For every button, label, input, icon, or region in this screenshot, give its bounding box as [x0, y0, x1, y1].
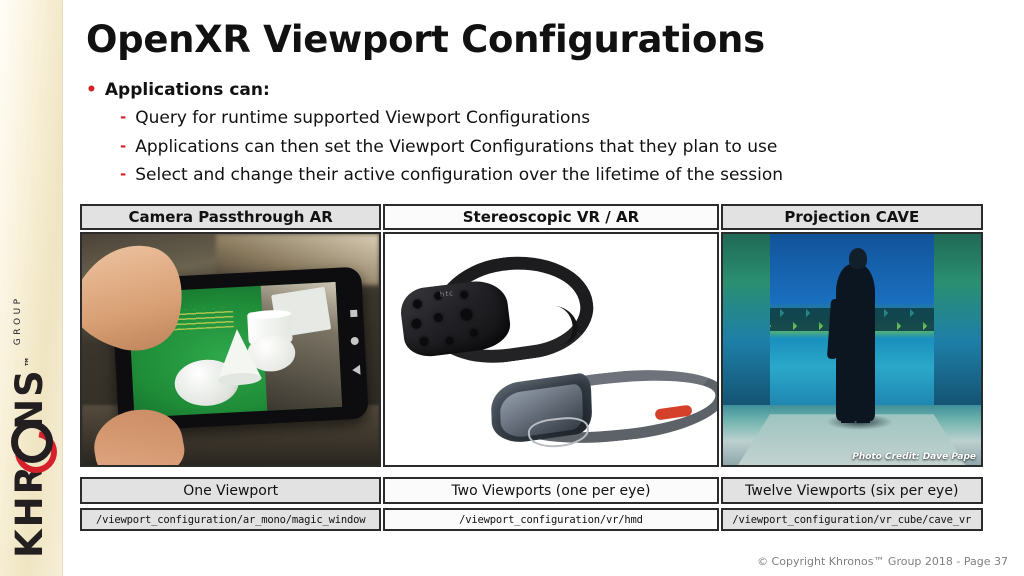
path-vr-hmd: /viewport_configuration/vr/hmd [383, 508, 718, 531]
viewport-count-one: One Viewport [80, 477, 381, 504]
vive-tracking-sensors [398, 277, 512, 358]
brand-rail: KHR N S ™ GROUP [0, 0, 63, 576]
cave-photo: Photo Credit: Dave Pape [723, 234, 981, 465]
khronos-logo-wordmark: KHR N S ™ GROUP [11, 295, 48, 558]
photo-credit: Photo Credit: Dave Pape [852, 452, 976, 462]
dash-icon: - [120, 137, 126, 157]
sub-bullet-3-label: Select and change their active configura… [135, 165, 783, 186]
table-path-row: /viewport_configuration/ar_mono/magic_wi… [80, 508, 983, 531]
image-projection-cave: Photo Credit: Dave Pape [721, 232, 983, 467]
dash-icon: - [120, 108, 126, 128]
page-title: OpenXR Viewport Configurations [86, 18, 765, 61]
khronos-ring-black-icon [11, 421, 53, 463]
headsets-photo: htc [385, 234, 716, 465]
nav-home-circle-icon [350, 337, 358, 345]
nav-back-triangle-icon [352, 365, 361, 375]
khronos-logo-text-a: KHR [11, 464, 48, 558]
viewport-count-twelve: Twelve Viewports (six per eye) [721, 477, 983, 504]
image-stereoscopic-vr-ar: htc [383, 232, 718, 467]
trademark-symbol: ™ [24, 354, 35, 367]
cave-right-wall-projection [934, 234, 981, 420]
viewport-comparison-table: Camera Passthrough AR Stereoscopic VR / … [80, 204, 983, 531]
viewport-count-two: Two Viewports (one per eye) [383, 477, 718, 504]
sub-bullet-1-label: Query for runtime supported Viewport Con… [135, 108, 590, 129]
bullet-heading-label: Applications can: [105, 80, 270, 101]
khronos-logo-text-c: S [11, 368, 48, 397]
path-vr-cube-cave-vr: /viewport_configuration/vr_cube/cave_vr [721, 508, 983, 531]
column-header-projection-cave: Projection CAVE [721, 204, 983, 230]
khronos-logo-ring-icon [12, 430, 46, 464]
bullet-list: • Applications can: - Query for runtime … [86, 80, 966, 186]
cave-left-wall-projection [723, 234, 770, 420]
sub-bullet-2-label: Applications can then set the Viewport C… [135, 137, 777, 158]
table-image-row: htc [80, 232, 983, 467]
vive-visor-body [398, 277, 512, 358]
person-legs [841, 368, 869, 423]
sub-bullet-1: - Query for runtime supported Viewport C… [120, 108, 966, 129]
table-viewport-count-row: One Viewport Two Viewports (one per eye)… [80, 477, 983, 504]
table-header-row: Camera Passthrough AR Stereoscopic VR / … [80, 204, 983, 230]
htc-vive-headset: htc [402, 257, 574, 368]
bullet-heading: • Applications can: [86, 80, 966, 101]
slide: KHR N S ™ GROUP OpenXR Viewport Configur… [0, 0, 1024, 576]
bullet-dot-icon: • [86, 82, 97, 99]
person-head [849, 248, 867, 269]
sub-bullet-2: - Applications can then set the Viewport… [120, 137, 966, 158]
khronos-logo-subtitle: GROUP [14, 295, 23, 345]
sub-bullet-3: - Select and change their active configu… [120, 165, 966, 186]
image-camera-passthrough-ar [80, 232, 381, 467]
column-header-camera-passthrough-ar: Camera Passthrough AR [80, 204, 381, 230]
microsoft-hololens-headset [491, 354, 710, 451]
column-header-stereoscopic-vr-ar: Stereoscopic VR / AR [383, 204, 718, 230]
dash-icon: - [120, 165, 126, 185]
path-ar-mono-magic-window: /viewport_configuration/ar_mono/magic_wi… [80, 508, 381, 531]
ar-photo [82, 234, 379, 465]
footer-copyright: © Copyright Khronos™ Group 2018 - Page 3… [757, 555, 1008, 568]
nav-square-icon [350, 310, 357, 317]
khronos-logo: KHR N S ™ GROUP [0, 96, 60, 566]
